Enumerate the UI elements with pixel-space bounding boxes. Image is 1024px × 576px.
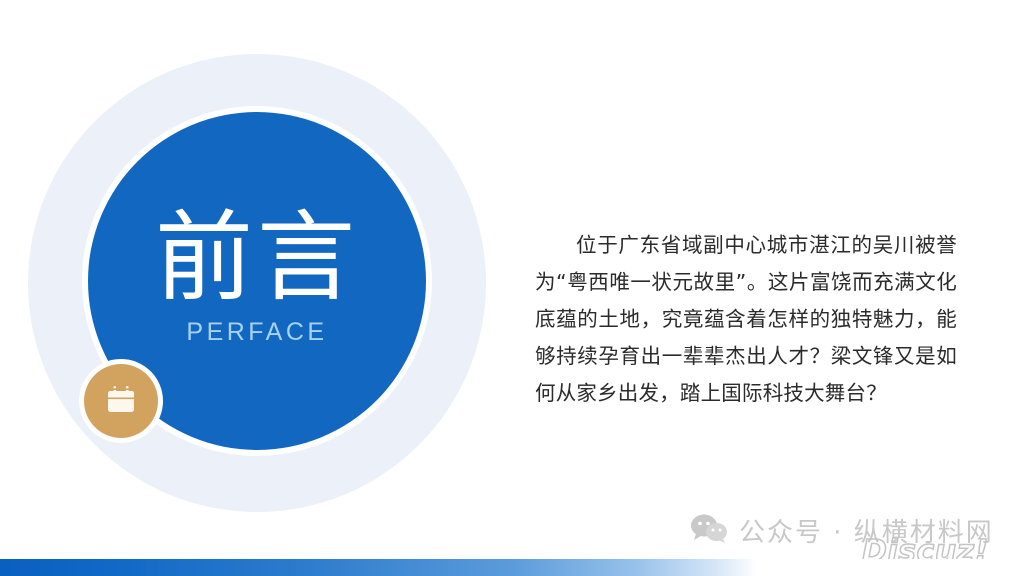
bottom-accent-bar [0,559,1024,576]
slide-canvas: 前言 PERFACE 位于广东省域副中心城市湛江的吴川被誉为“粤西唯一状元故里”… [0,0,1024,576]
badge-title-en: PERFACE [186,318,327,347]
preface-badge: 前言 PERFACE [28,54,486,512]
wechat-icon [690,513,728,548]
calendar-chip [84,364,158,438]
intro-paragraph: 位于广东省域副中心城市湛江的吴川被誉为“粤西唯一状元故里”。这片富饶而充满文化底… [535,227,957,412]
badge-title-cn: 前言 [155,209,359,309]
calendar-icon [102,382,140,420]
